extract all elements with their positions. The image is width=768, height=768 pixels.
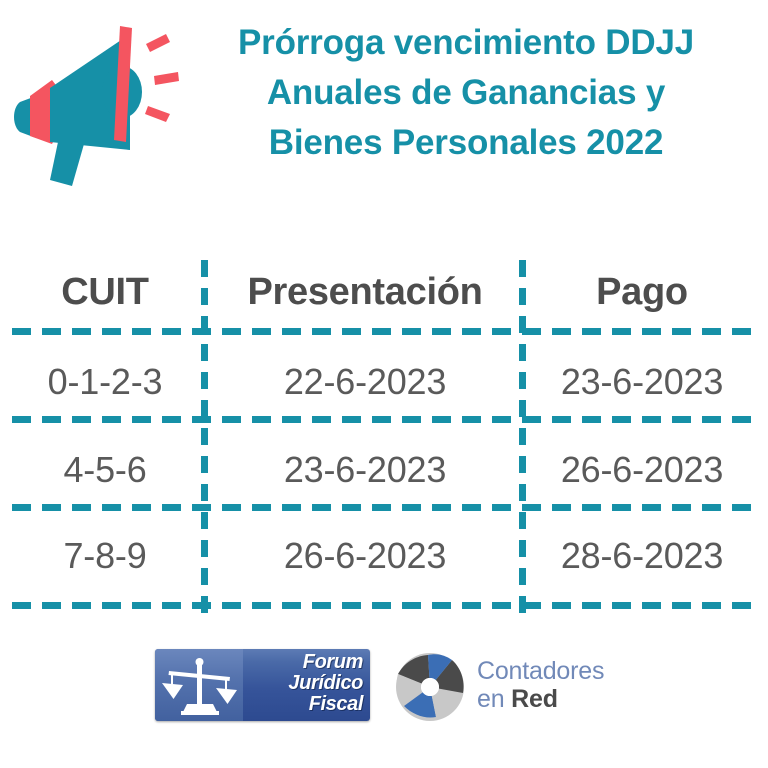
contadores-en-red-logo: Contadores en Red — [395, 650, 625, 722]
forum-juridico-fiscal-logo: Forum Jurídico Fiscal — [155, 649, 370, 721]
table-row: 28-6-2023 — [528, 516, 756, 596]
poster-root: Prórroga vencimiento DDJJ Anuales de Gan… — [0, 0, 768, 768]
table-row: 23-6-2023 — [210, 430, 520, 510]
megaphone-icon — [6, 14, 196, 189]
table-header-pago-label: Pago — [596, 271, 688, 314]
cell-pago: 26-6-2023 — [561, 449, 723, 491]
table-header-pago: Pago — [528, 254, 756, 330]
contadores-line-2-prefix: en — [477, 685, 511, 713]
cell-presentacion: 23-6-2023 — [284, 449, 446, 491]
cell-cuit: 4-5-6 — [63, 449, 146, 491]
table-row: 23-6-2023 — [528, 342, 756, 422]
contadores-line-2: en Red — [477, 685, 604, 713]
table-row: 7-8-9 — [10, 516, 200, 596]
table-divider-cuit-presentacion — [201, 260, 208, 618]
contadores-en-red-wordmark: Contadores en Red — [477, 658, 604, 713]
table-header-presentacion-label: Presentación — [247, 271, 482, 314]
title-line-2: Anuales de Ganancias y — [170, 68, 762, 118]
aperture-pinwheel-icon — [395, 652, 465, 727]
table-row: 26-6-2023 — [528, 430, 756, 510]
cell-cuit: 0-1-2-3 — [48, 361, 163, 403]
table-row: 22-6-2023 — [210, 342, 520, 422]
forum-logo-line-1: Forum — [245, 652, 363, 673]
table-row: 0-1-2-3 — [10, 342, 200, 422]
table-header-cuit-label: CUIT — [61, 271, 148, 314]
cell-presentacion: 26-6-2023 — [284, 535, 446, 577]
forum-logo-line-3: Fiscal — [245, 694, 363, 715]
page-title: Prórroga vencimiento DDJJ Anuales de Gan… — [170, 18, 762, 168]
table-header-cuit: CUIT — [10, 254, 200, 330]
cell-presentacion: 22-6-2023 — [284, 361, 446, 403]
deadlines-table: CUIT Presentación Pago 0-1-2-3 22-6-2023… — [0, 250, 768, 620]
cell-pago: 28-6-2023 — [561, 535, 723, 577]
cell-cuit: 7-8-9 — [63, 535, 146, 577]
title-line-3: Bienes Personales 2022 — [170, 118, 762, 168]
table-rule-bottom — [12, 602, 756, 609]
contadores-line-2-bold: Red — [511, 685, 558, 713]
table-divider-presentacion-pago — [519, 260, 526, 618]
scales-of-justice-icon — [161, 654, 239, 721]
forum-logo-line-2: Jurídico — [245, 673, 363, 694]
table-row: 4-5-6 — [10, 430, 200, 510]
contadores-line-1: Contadores — [477, 658, 604, 685]
cell-pago: 23-6-2023 — [561, 361, 723, 403]
header: Prórroga vencimiento DDJJ Anuales de Gan… — [0, 0, 768, 215]
table-row: 26-6-2023 — [210, 516, 520, 596]
table-header-presentacion: Presentación — [210, 254, 520, 330]
forum-logo-icon-panel — [155, 649, 243, 721]
forum-logo-wordmark: Forum Jurídico Fiscal — [245, 652, 369, 718]
title-line-1: Prórroga vencimiento DDJJ — [170, 18, 762, 68]
